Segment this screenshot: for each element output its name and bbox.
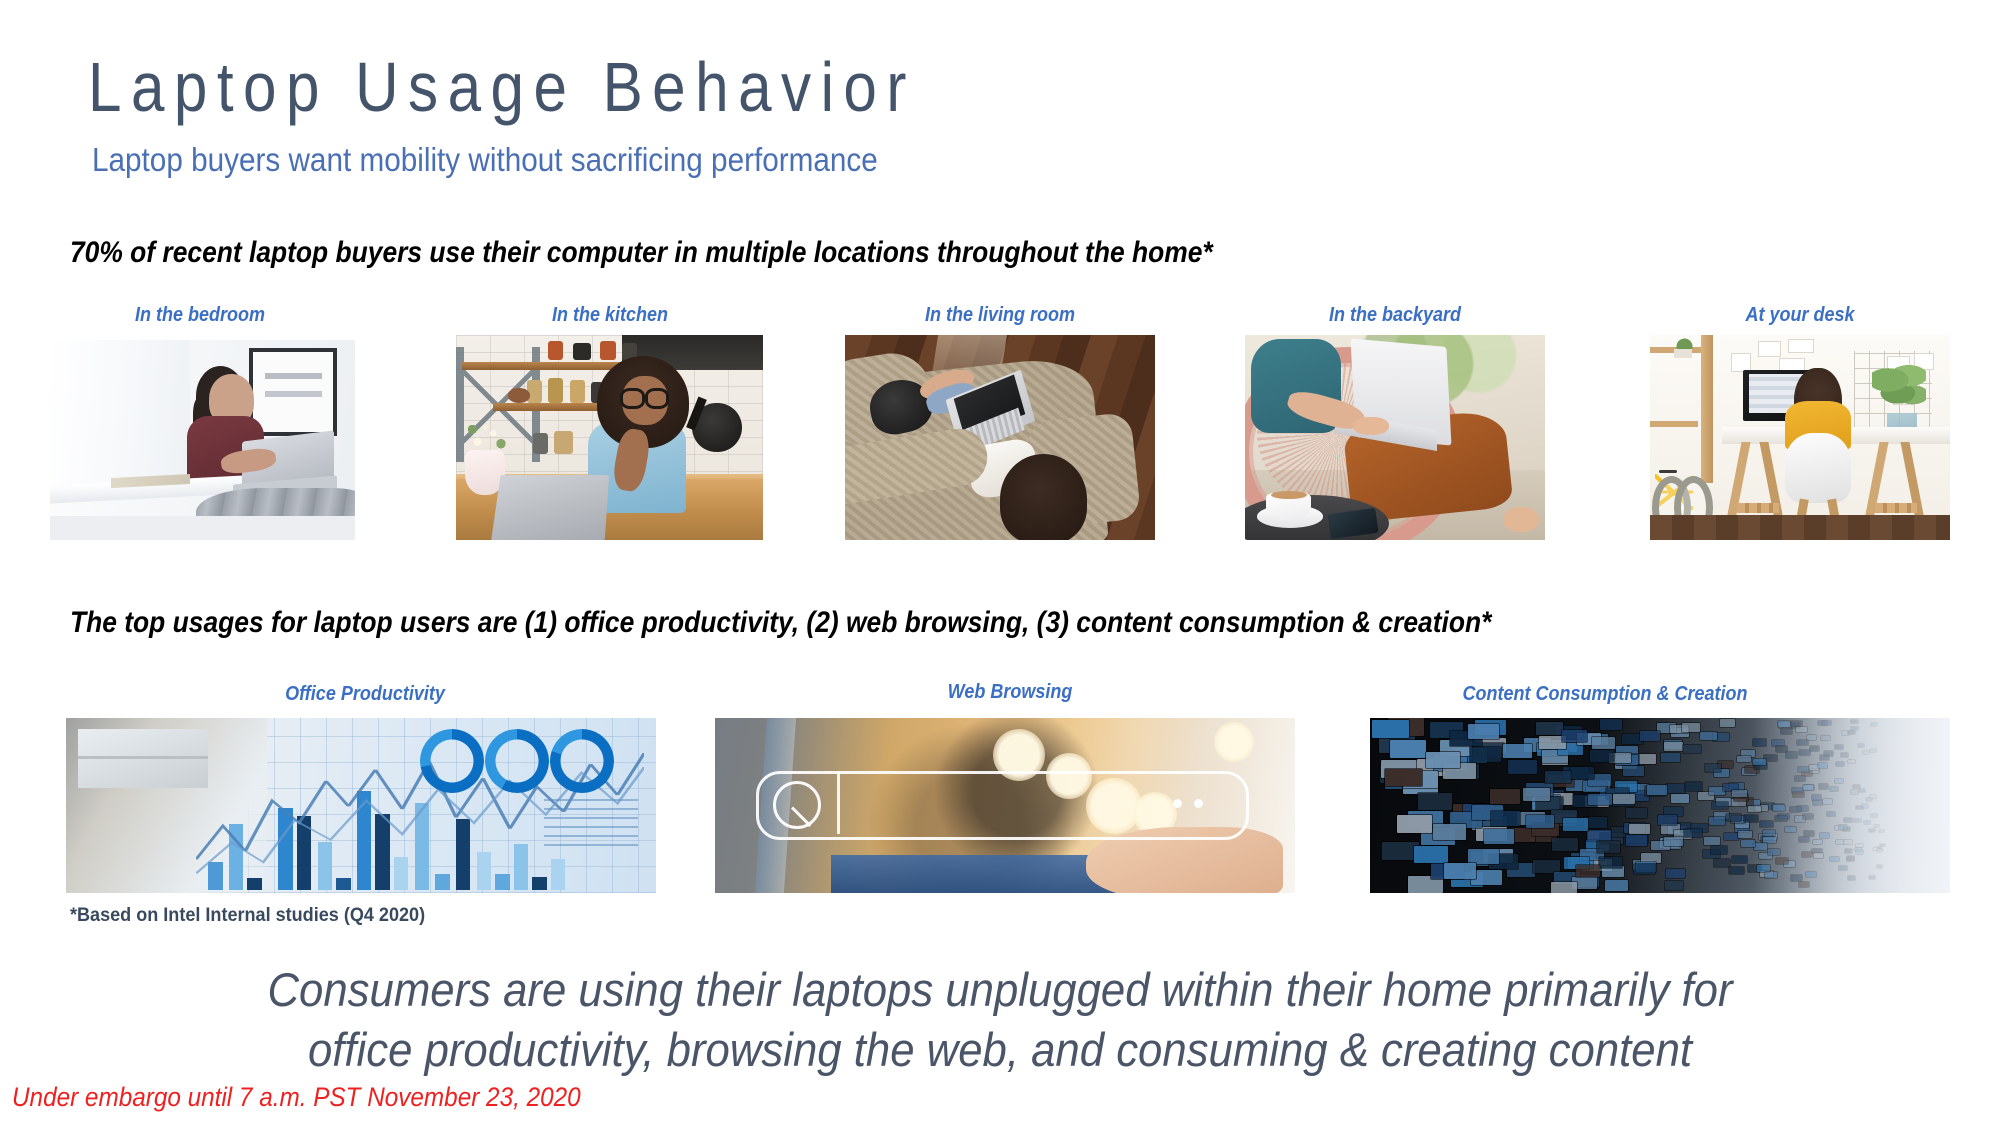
- media-tile: [1551, 882, 1577, 893]
- search-bar-bokeh-photo: [715, 718, 1295, 893]
- media-tile: [1562, 730, 1587, 742]
- media-tile: [1629, 824, 1650, 834]
- page-subtitle: Laptop buyers want mobility without sacr…: [92, 140, 878, 180]
- media-tile: [1671, 794, 1689, 803]
- media-tile: [1570, 767, 1595, 779]
- section-one-headline: 70% of recent laptop buyers use their co…: [70, 235, 1213, 271]
- media-tile: [1666, 784, 1685, 793]
- media-tile: [1372, 720, 1409, 738]
- media-tile: [1634, 864, 1655, 874]
- media-tile: [1700, 732, 1716, 740]
- footnote-source: *Based on Intel Internal studies (Q4 202…: [70, 905, 425, 927]
- woman-on-laptop-on-couch-photo: [845, 335, 1155, 540]
- media-tile: [1712, 802, 1728, 810]
- media-tile: [1724, 833, 1739, 840]
- caption-in-the-bedroom: In the bedroom: [65, 303, 335, 327]
- media-tile: [1732, 790, 1746, 797]
- media-tile: [1640, 731, 1660, 741]
- media-tile: [1590, 750, 1613, 761]
- closing-line-1: Consumers are using their laptops unplug…: [70, 960, 1930, 1020]
- media-tile: [1726, 814, 1741, 821]
- caption-in-the-backyard: In the backyard: [1260, 303, 1530, 327]
- media-tile: [1433, 824, 1466, 840]
- donut-chart-3: [550, 729, 614, 793]
- page-title: Laptop Usage Behavior: [88, 48, 916, 126]
- media-tile: [1491, 811, 1521, 825]
- media-tile: [1685, 782, 1702, 790]
- media-tile: [1709, 817, 1725, 825]
- media-tile: [1714, 859, 1730, 867]
- media-tile: [1545, 771, 1571, 784]
- media-tile: [1552, 838, 1578, 851]
- media-tile: [1683, 745, 1701, 754]
- media-image-wall-photo: [1370, 718, 1950, 893]
- media-tile: [1523, 788, 1551, 801]
- media-tile: [1599, 857, 1622, 868]
- media-tile: [1600, 719, 1623, 730]
- caption-in-the-kitchen: In the kitchen: [471, 303, 750, 327]
- media-tile: [1508, 760, 1536, 774]
- woman-on-laptop-in-kitchen-photo: [456, 335, 763, 540]
- media-tile: [1526, 815, 1553, 828]
- media-tile: [1426, 752, 1460, 768]
- media-tile: [1484, 829, 1514, 844]
- business-analytics-charts-photo: [66, 718, 656, 893]
- media-tile: [1647, 785, 1667, 795]
- media-tile: [1597, 841, 1620, 852]
- media-tile: [1665, 881, 1684, 890]
- media-tile: [1418, 793, 1452, 810]
- slide-canvas: Laptop Usage Behavior Laptop buyers want…: [0, 0, 2000, 1125]
- media-tile: [1468, 724, 1499, 739]
- media-tile: [1490, 789, 1520, 803]
- caption-in-the-living-room: In the living room: [861, 303, 1140, 327]
- media-tile: [1536, 722, 1563, 735]
- woman-on-laptop-in-bed-photo: [50, 340, 355, 540]
- woman-at-home-office-desk-photo: [1650, 335, 1950, 540]
- media-tile: [1684, 829, 1701, 837]
- caption-office-productivity: Office Productivity: [203, 682, 527, 706]
- caption-web-browsing: Web Browsing: [848, 680, 1172, 704]
- media-tile: [1605, 880, 1627, 891]
- donut-chart-1: [420, 729, 484, 793]
- media-tile: [1588, 794, 1611, 805]
- media-tile: [1732, 856, 1746, 863]
- media-tile: [1664, 837, 1683, 846]
- media-tile: [1664, 742, 1683, 751]
- media-tile: [1414, 846, 1448, 863]
- media-tile: [1682, 723, 1700, 732]
- search-icon: [773, 781, 821, 829]
- closing-line-2: office productivity, browsing the web, a…: [70, 1020, 1930, 1080]
- media-tile: [1626, 835, 1647, 845]
- media-tile: [1664, 807, 1683, 816]
- closing-statement: Consumers are using their laptops unplug…: [0, 960, 2000, 1080]
- media-tile: [1704, 837, 1720, 845]
- media-tile: [1533, 860, 1560, 873]
- media-tile: [1720, 719, 1735, 726]
- media-tile: [1623, 766, 1644, 776]
- donut-chart-2: [485, 729, 549, 793]
- media-tile: [1666, 869, 1685, 878]
- media-tile: [1658, 815, 1677, 824]
- media-tile: [1613, 794, 1635, 805]
- media-tile: [1576, 865, 1600, 877]
- media-tile: [1661, 753, 1680, 762]
- media-tile: [1626, 808, 1647, 818]
- media-tile: [1563, 818, 1588, 830]
- media-tile: [1444, 863, 1477, 879]
- media-tile: [1737, 756, 1751, 763]
- woman-on-laptop-in-patio-chair-photo: [1245, 335, 1545, 540]
- media-tile: [1385, 769, 1421, 787]
- caption-content-consumption-creation: Content Consumption & Creation: [1416, 682, 1794, 706]
- embargo-notice: Under embargo until 7 a.m. PST November …: [12, 1082, 581, 1113]
- media-tile: [1729, 867, 1744, 874]
- media-tile: [1397, 815, 1432, 832]
- media-tile: [1587, 830, 1611, 841]
- media-tile: [1470, 747, 1501, 762]
- media-tile: [1711, 846, 1727, 854]
- media-tile: [1738, 831, 1752, 838]
- section-two-headline: The top usages for laptop users are (1) …: [70, 605, 1491, 641]
- media-tile: [1705, 764, 1721, 772]
- media-tile: [1592, 737, 1615, 748]
- caption-at-your-desk: At your desk: [1665, 303, 1935, 327]
- media-tile: [1390, 740, 1426, 757]
- media-tile: [1503, 744, 1532, 758]
